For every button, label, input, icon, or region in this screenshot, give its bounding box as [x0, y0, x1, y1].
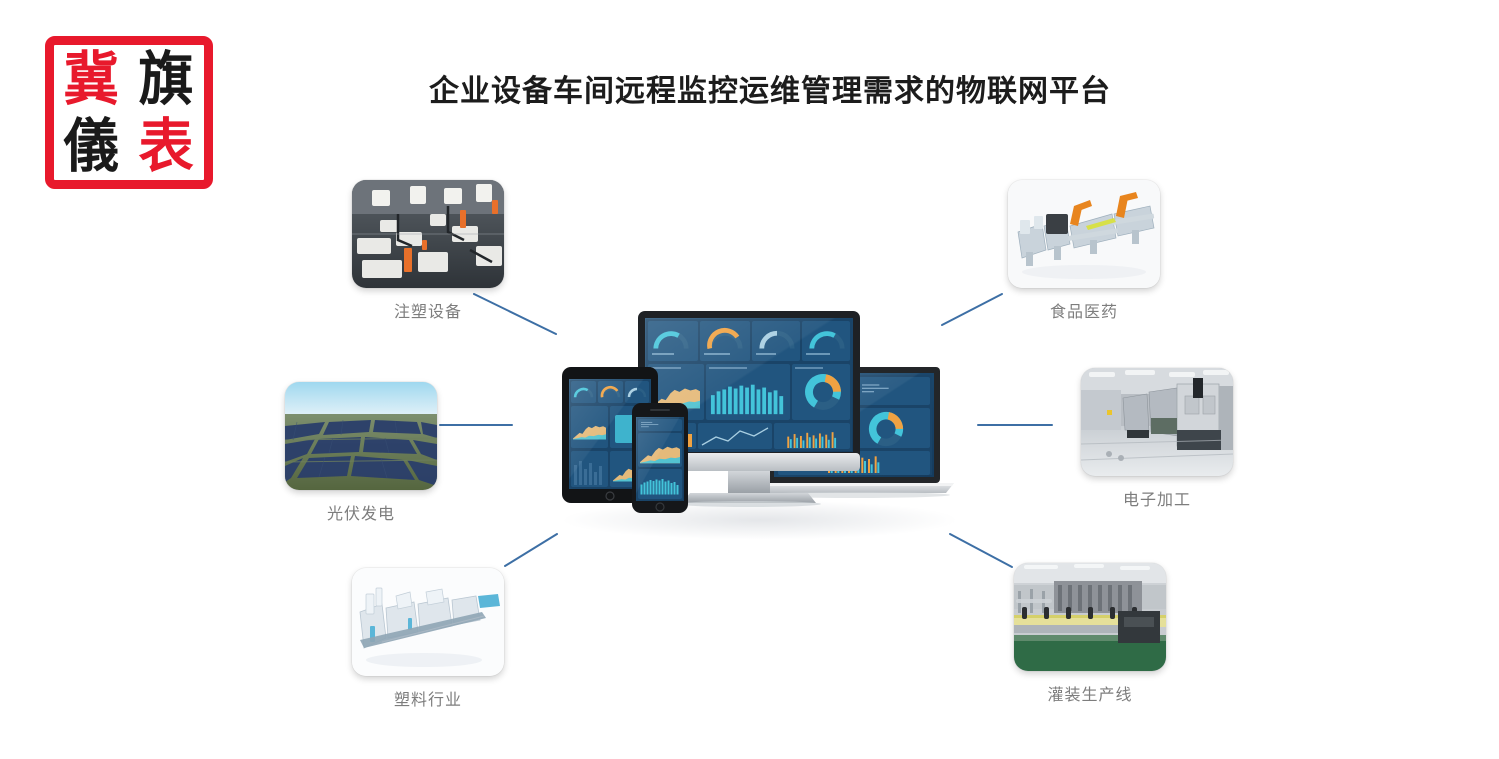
electronics-cleanroom-photo	[1081, 368, 1233, 476]
industry-node-food[interactable]: 食品医药	[1004, 180, 1164, 322]
robotic-packaging-line-photo	[1008, 180, 1160, 288]
industry-node-label-solar: 光伏发电	[281, 500, 441, 524]
plastic-extrusion-line-photo	[352, 568, 504, 676]
connector-line-filling	[950, 534, 1012, 567]
bottle-filling-line-photo	[1014, 563, 1166, 671]
industry-node-label-injection: 注塑设备	[348, 298, 508, 322]
logo-char-2: 旗	[139, 50, 194, 108]
logo-char-4: 表	[139, 117, 194, 175]
device-phone	[632, 403, 688, 513]
industry-node-label-plastic: 塑料行业	[348, 686, 508, 710]
industry-node-filling[interactable]: 灌装生产线	[1010, 563, 1170, 705]
connector-line-plastic	[505, 534, 557, 566]
industry-node-label-food: 食品医药	[1004, 298, 1164, 322]
industry-node-plastic[interactable]: 塑料行业	[348, 568, 508, 710]
logo-char-3: 儀	[64, 117, 119, 175]
industry-node-injection[interactable]: 注塑设备	[348, 180, 508, 322]
device-cluster[interactable]	[540, 305, 970, 520]
industry-node-electronic[interactable]: 电子加工	[1077, 368, 1237, 510]
industry-node-solar[interactable]: 光伏发电	[281, 382, 441, 524]
brand-logo: 冀 旗 儀 表	[45, 36, 213, 189]
injection-molding-machines-photo	[352, 180, 504, 288]
logo-char-1: 冀	[64, 50, 119, 108]
solar-panel-farm-photo	[285, 382, 437, 490]
industry-node-label-electronic: 电子加工	[1077, 486, 1237, 510]
industry-node-label-filling: 灌装生产线	[1010, 681, 1170, 705]
page-title: 企业设备车间远程监控运维管理需求的物联网平台	[240, 66, 1300, 110]
